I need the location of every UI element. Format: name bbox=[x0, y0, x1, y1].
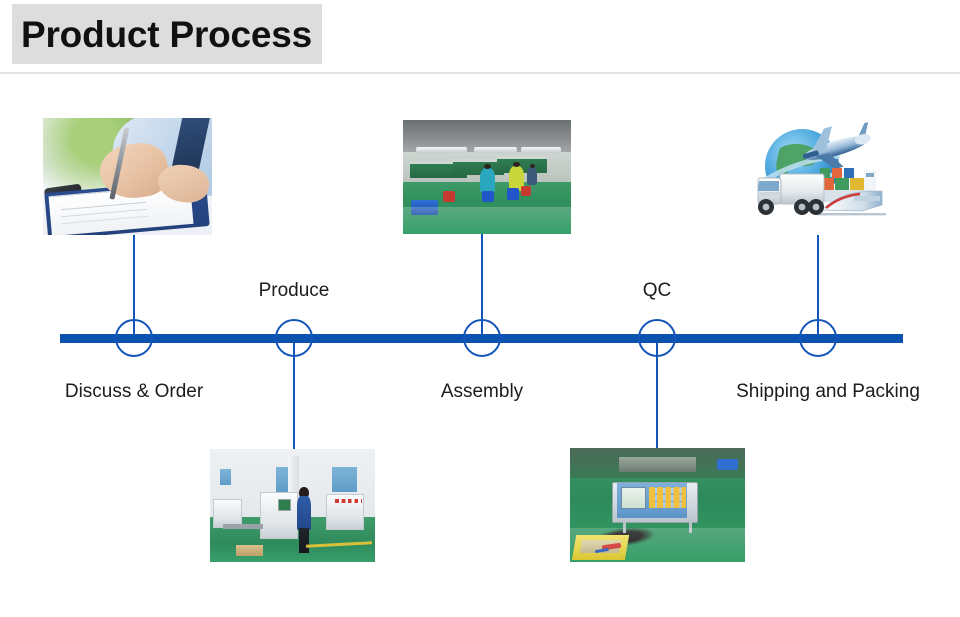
page-title-box: Product Process bbox=[12, 4, 322, 64]
timeline-label-assembly: Assembly bbox=[441, 382, 523, 401]
timeline-label-qc: QC bbox=[643, 281, 672, 300]
logistics-illustration bbox=[740, 118, 900, 235]
timeline-label-discuss-order: Discuss & Order bbox=[65, 382, 203, 401]
logistics-shipping-photo bbox=[740, 118, 900, 235]
qc-test-equipment-photo bbox=[570, 448, 745, 562]
workshop-production-photo bbox=[210, 449, 375, 562]
assembly-line-photo bbox=[403, 120, 571, 234]
page-title: Product Process bbox=[21, 16, 312, 53]
timeline-node-discuss-order[interactable] bbox=[115, 319, 153, 357]
signing-contract-photo bbox=[43, 118, 212, 235]
timeline-node-assembly[interactable] bbox=[463, 319, 501, 357]
timeline-node-produce[interactable] bbox=[275, 319, 313, 357]
connector-produce bbox=[293, 343, 295, 449]
timeline-label-produce: Produce bbox=[259, 281, 330, 300]
connector-qc bbox=[656, 343, 658, 448]
page-header: Product Process bbox=[0, 0, 960, 74]
process-timeline: Discuss & Order Produce Assembly QC Ship… bbox=[0, 74, 960, 617]
timeline-node-shipping-packing[interactable] bbox=[799, 319, 837, 357]
timeline-node-qc[interactable] bbox=[638, 319, 676, 357]
timeline-label-shipping-packing: Shipping and Packing bbox=[736, 382, 920, 401]
